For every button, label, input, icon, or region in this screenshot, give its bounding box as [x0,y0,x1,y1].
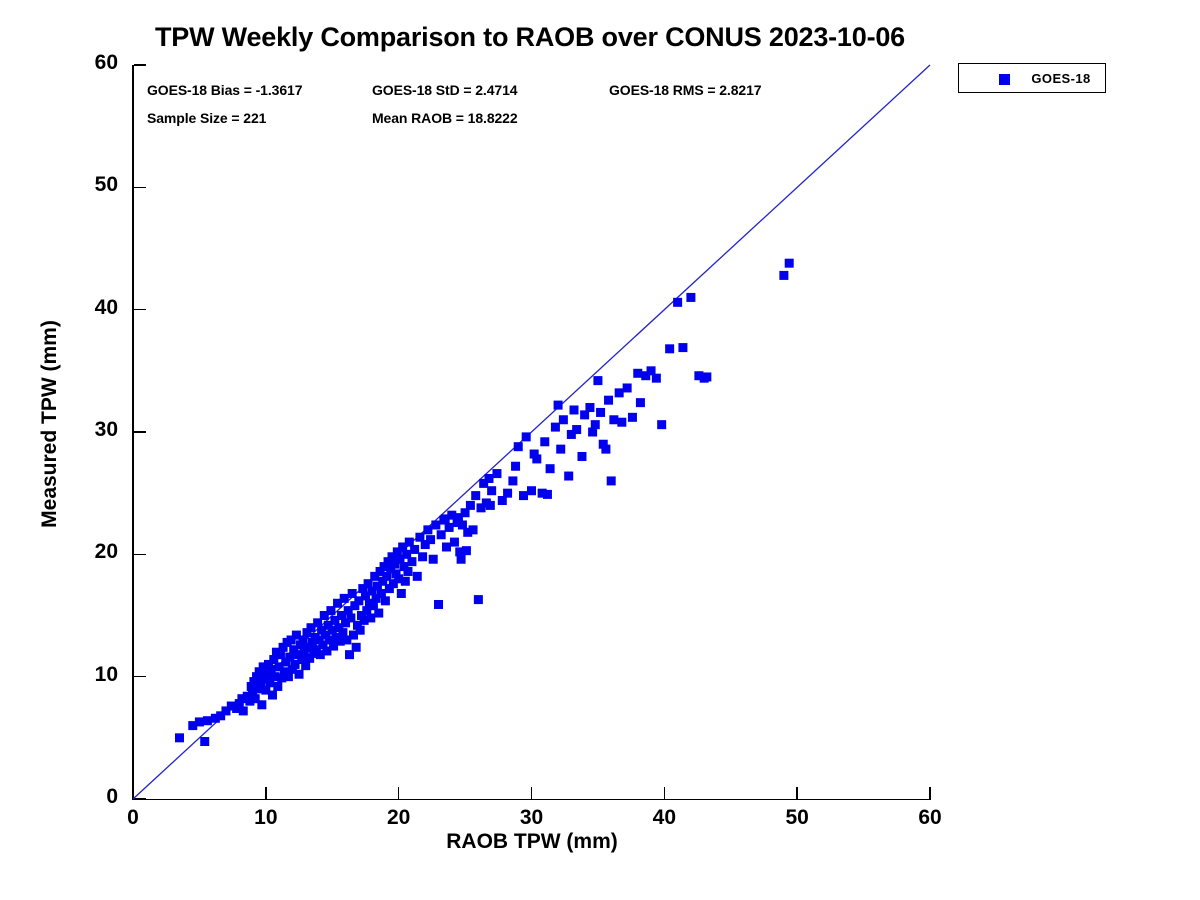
data-point [556,445,565,454]
data-point [596,408,605,417]
data-point [401,577,410,586]
data-point [678,343,687,352]
data-point [356,626,365,635]
data-point [340,594,349,603]
data-point [572,425,581,434]
chart-title: TPW Weekly Comparison to RAOB over CONUS… [0,22,1060,53]
data-point [474,595,483,604]
data-point [487,486,496,495]
data-point [273,682,282,691]
data-point [484,474,493,483]
data-point [540,437,549,446]
data-point [554,401,563,410]
data-point [615,388,624,397]
data-point [527,486,536,495]
data-point [636,398,645,407]
data-point [257,700,266,709]
data-point [585,403,594,412]
data-point [457,555,466,564]
data-point [577,452,586,461]
data-point [492,469,501,478]
data-point [785,259,794,268]
chart-figure: TPW Weekly Comparison to RAOB over CONUS… [0,0,1200,900]
y-tick-label-60: 60 [8,51,118,75]
data-point [514,442,523,451]
data-point [423,525,432,534]
data-point [609,415,618,424]
data-point [623,383,632,392]
data-point [551,423,560,432]
data-point [175,733,184,742]
data-point [410,545,419,554]
data-point [445,523,454,532]
data-point [673,298,682,307]
data-point [570,405,579,414]
data-point [413,572,422,581]
legend[interactable]: GOES-18 [958,63,1106,93]
data-point [431,520,440,529]
data-point [559,415,568,424]
data-point [546,464,555,473]
data-point [530,450,539,459]
data-point [702,372,711,381]
y-tick-label-50: 50 [8,173,118,197]
data-point [652,374,661,383]
plot-area [133,65,930,799]
data-point [462,546,471,555]
data-point [601,445,610,454]
data-point [203,716,212,725]
data-point [471,491,480,500]
data-point [295,670,304,679]
data-point [200,737,209,746]
data-point [418,552,427,561]
data-point [657,420,666,429]
data-point [486,501,495,510]
x-tick-label-0: 0 [73,806,193,830]
data-point [617,418,626,427]
y-tick-label-10: 10 [8,663,118,687]
data-point [779,271,788,280]
data-point [633,369,642,378]
x-tick-label-30: 30 [472,806,592,830]
data-point [381,596,390,605]
data-points-group [175,259,794,746]
x-tick-label-40: 40 [604,806,724,830]
data-point [366,613,375,622]
data-point [511,462,520,471]
data-point [239,706,248,715]
data-point [466,501,475,510]
data-point [441,514,450,523]
data-point [397,589,406,598]
data-point [442,542,451,551]
data-point [450,538,459,547]
x-tick-label-60: 60 [870,806,990,830]
data-point [628,413,637,422]
data-point [607,476,616,485]
legend-marker-icon [999,74,1010,85]
data-point [564,472,573,481]
data-point [508,476,517,485]
y-tick-label-40: 40 [8,296,118,320]
data-point [268,691,277,700]
legend-label: GOES-18 [1021,71,1101,86]
y-tick-label-30: 30 [8,418,118,442]
data-point [403,567,412,576]
data-point [352,643,361,652]
data-point [434,600,443,609]
data-point [686,293,695,302]
data-point [522,432,531,441]
scatter-plot [133,65,930,799]
x-tick-label-10: 10 [206,806,326,830]
data-point [429,555,438,564]
data-point [604,396,613,405]
data-point [503,489,512,498]
data-point [591,420,600,429]
y-axis-title: Measured TPW (mm) [38,224,62,624]
x-axis-title: RAOB TPW (mm) [133,830,931,854]
y-tick-label-20: 20 [8,540,118,564]
data-point [593,376,602,385]
data-point [195,717,204,726]
data-point [407,557,416,566]
data-point [437,530,446,539]
x-tick-label-20: 20 [339,806,459,830]
data-point [374,609,383,618]
data-point [665,344,674,353]
data-point [519,491,528,500]
data-point [469,525,478,534]
x-tick-label-50: 50 [737,806,857,830]
data-point [543,490,552,499]
data-point [426,535,435,544]
